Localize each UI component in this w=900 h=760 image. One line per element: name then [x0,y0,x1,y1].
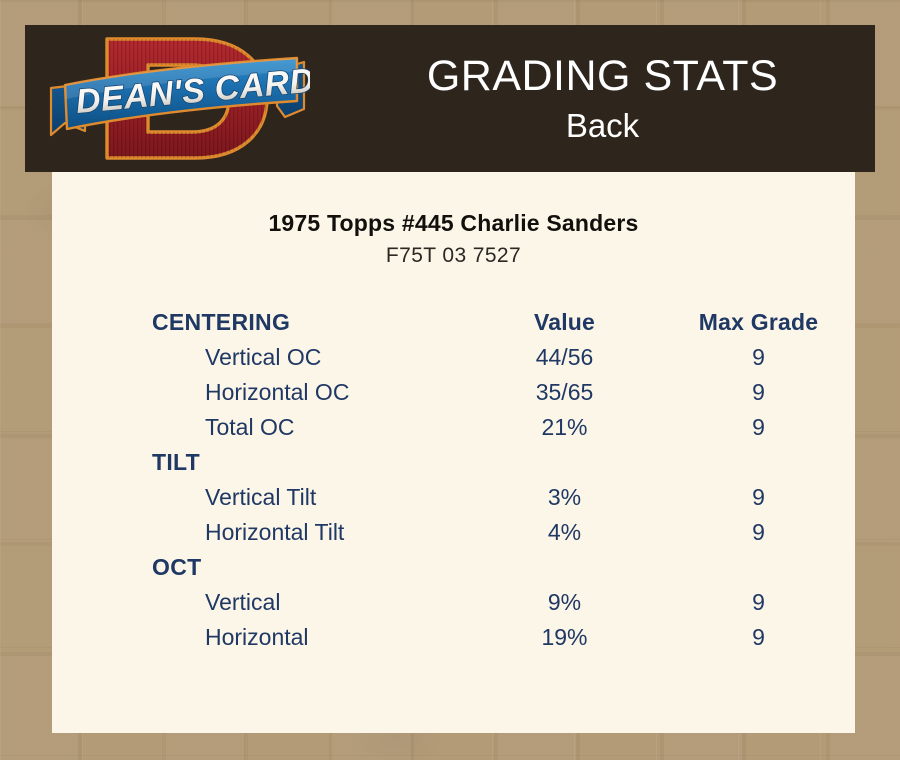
stat-label: Horizontal OC [52,375,467,410]
stat-label: Total OC [52,410,467,445]
card-title: 1975 Topps #445 Charlie Sanders [52,208,855,238]
table-row: Vertical9%9 [52,585,855,620]
table-row: Vertical Tilt3%9 [52,480,855,515]
page-subtitle: Back [566,106,639,146]
page-title: GRADING STATS [427,51,778,101]
stat-value: 35/65 [467,375,662,410]
card-serial-number: F75T 03 7527 [52,242,855,270]
stat-max-grade: 9 [662,620,855,655]
section-header-row: TILT [52,445,855,480]
grading-stats-table: CENTERINGValueMax GradeVertical OC44/569… [52,305,855,655]
stat-label: Horizontal [52,620,467,655]
table-row: Horizontal Tilt4%9 [52,515,855,550]
table-row: Total OC21%9 [52,410,855,445]
stat-max-grade: 9 [662,340,855,375]
header-bar: DEAN'S CARDS GRADING STATS Back [25,25,875,172]
stat-max-grade: 9 [662,585,855,620]
stat-value: 44/56 [467,340,662,375]
column-header-value [467,445,662,480]
stat-label: Vertical Tilt [52,480,467,515]
section-title-oct: OCT [52,550,467,585]
column-header-max-grade: Max Grade [662,305,855,340]
column-header-max-grade [662,445,855,480]
stat-label: Horizontal Tilt [52,515,467,550]
stat-label: Vertical [52,585,467,620]
stat-value: 4% [467,515,662,550]
stat-max-grade: 9 [662,375,855,410]
section-title-centering: CENTERING [52,305,467,340]
stat-value: 19% [467,620,662,655]
stat-label: Vertical OC [52,340,467,375]
section-title-tilt: TILT [52,445,467,480]
section-header-row: CENTERINGValueMax Grade [52,305,855,340]
content-panel: 1975 Topps #445 Charlie Sanders F75T 03 … [52,172,855,733]
stat-value: 9% [467,585,662,620]
stat-max-grade: 9 [662,410,855,445]
table-row: Horizontal19%9 [52,620,855,655]
table-row: Vertical OC44/569 [52,340,855,375]
header-title-group: GRADING STATS Back [330,25,875,172]
deans-cards-logo[interactable]: DEAN'S CARDS [45,27,310,170]
stat-max-grade: 9 [662,515,855,550]
stat-value: 21% [467,410,662,445]
stat-value: 3% [467,480,662,515]
stat-max-grade: 9 [662,480,855,515]
column-header-value [467,550,662,585]
column-header-max-grade [662,550,855,585]
section-header-row: OCT [52,550,855,585]
column-header-value: Value [467,305,662,340]
table-row: Horizontal OC35/659 [52,375,855,410]
